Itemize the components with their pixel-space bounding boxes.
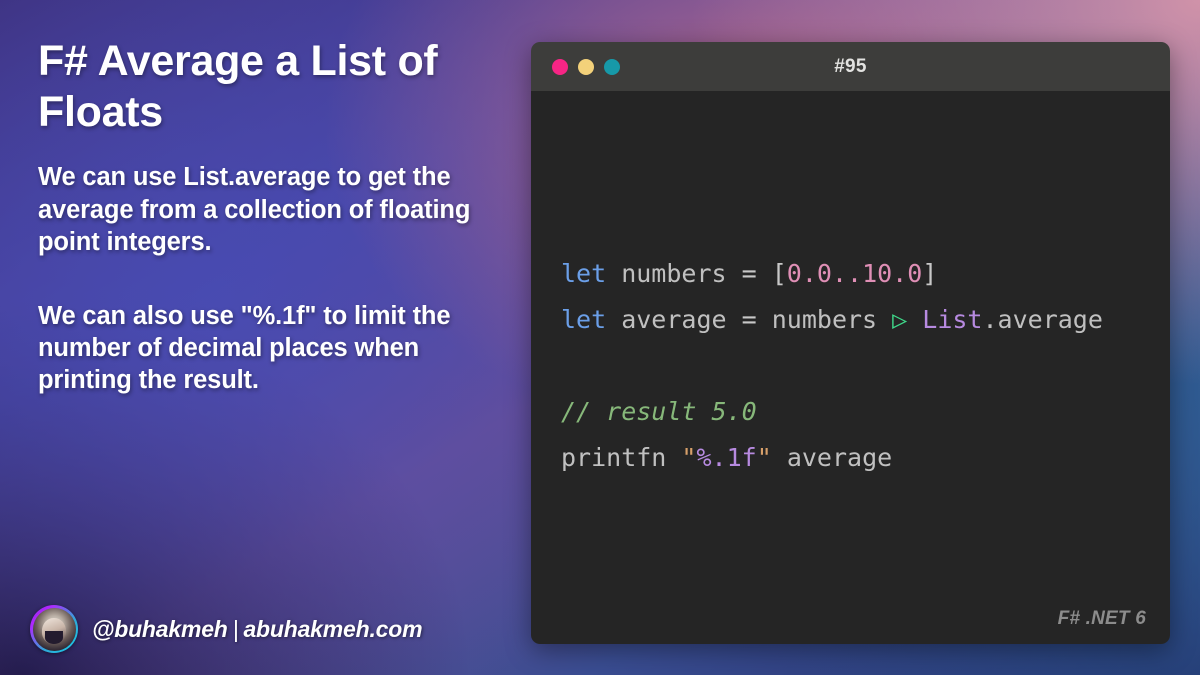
token-quote-open: " xyxy=(681,443,696,472)
body-paragraph-1: We can use List.average to get the avera… xyxy=(38,161,508,258)
page-title: F# Average a List of Floats xyxy=(38,36,508,137)
left-content-column: F# Average a List of Floats We can use L… xyxy=(38,36,508,397)
avatar-image xyxy=(33,608,76,651)
token-range-dots: .. xyxy=(832,259,862,288)
token-range-to: 10.0 xyxy=(862,259,922,288)
footer-attribution: @buhakmeh|abuhakmeh.com xyxy=(30,605,422,653)
code-block: let numbers = [0.0..10.0] let average = … xyxy=(561,251,1170,481)
token-let-2: let xyxy=(561,305,606,334)
token-printfn: printfn xyxy=(561,443,681,472)
code-window-title: #95 xyxy=(531,56,1170,78)
author-handle-line: @buhakmeh|abuhakmeh.com xyxy=(92,616,422,643)
code-editor-area[interactable]: let numbers = [0.0..10.0] let average = … xyxy=(531,91,1170,644)
code-window-titlebar: #95 xyxy=(531,42,1170,91)
close-button-icon[interactable] xyxy=(552,59,568,75)
token-numbers-ref: numbers xyxy=(772,305,892,334)
framework-badge: F# .NET 6 xyxy=(1058,608,1146,630)
token-format-specifier: %.1f xyxy=(696,443,756,472)
author-handle: @buhakmeh xyxy=(92,616,228,642)
token-list-module: List xyxy=(907,305,982,334)
token-let-1: let xyxy=(561,259,606,288)
token-bracket-open: [ xyxy=(772,259,787,288)
token-result-comment: // result 5.0 xyxy=(561,397,757,426)
token-average-arg: average xyxy=(772,443,892,472)
traffic-lights xyxy=(531,59,620,75)
handle-separator: | xyxy=(228,616,244,642)
token-equals-1: = xyxy=(742,259,772,288)
token-numbers-ident: numbers xyxy=(606,259,741,288)
token-average-ident: average xyxy=(606,305,741,334)
pipe-operator-icon: ▷ xyxy=(892,305,907,334)
slide-root: F# Average a List of Floats We can use L… xyxy=(0,0,1200,675)
body-paragraph-2: We can also use "%.1f" to limit the numb… xyxy=(38,300,508,397)
avatar xyxy=(30,605,78,653)
token-quote-close: " xyxy=(757,443,772,472)
token-average-member: .average xyxy=(982,305,1102,334)
token-bracket-close: ] xyxy=(922,259,937,288)
code-window: #95 let numbers = [0.0..10.0] let averag… xyxy=(531,42,1170,644)
author-website: abuhakmeh.com xyxy=(243,616,422,642)
maximize-button-icon[interactable] xyxy=(604,59,620,75)
token-range-from: 0.0 xyxy=(787,259,832,288)
token-equals-2: = xyxy=(742,305,772,334)
minimize-button-icon[interactable] xyxy=(578,59,594,75)
code-blank-line xyxy=(561,343,1170,389)
